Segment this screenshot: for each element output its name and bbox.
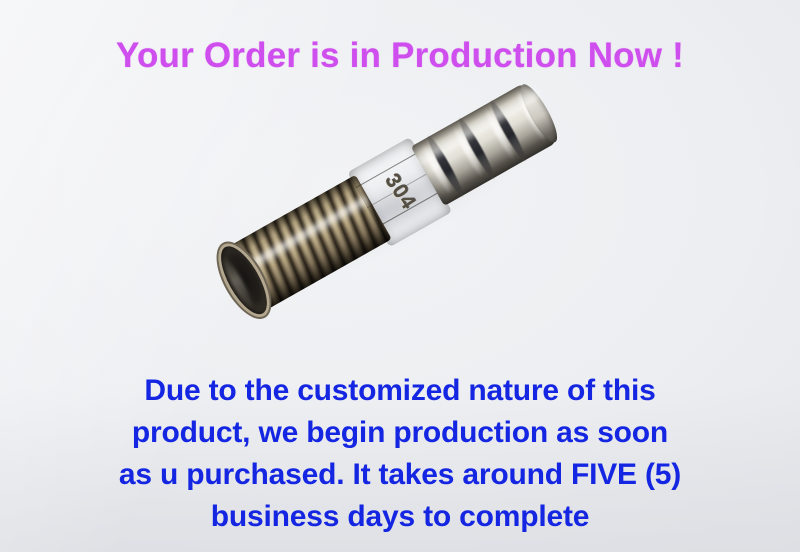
notice-line: product, we begin production as soon — [0, 412, 800, 454]
notice-banner: Your Order is in Production Now ! 304 — [0, 0, 800, 552]
notice-line: business days to complete — [0, 496, 800, 538]
notice-line: as u purchased. It takes around FIVE (5) — [0, 454, 800, 496]
product-photo: 304 — [218, 140, 598, 380]
hose-barb-fitting: 304 — [218, 74, 563, 320]
page-title: Your Order is in Production Now ! — [0, 36, 800, 76]
barbed-hose-end — [411, 82, 559, 206]
notice-line: Due to the customized nature of this — [0, 370, 800, 412]
material-grade-stamp: 304 — [379, 170, 420, 215]
barb-crest — [514, 90, 549, 144]
production-notice-text: Due to the customized nature of this pro… — [0, 370, 800, 538]
